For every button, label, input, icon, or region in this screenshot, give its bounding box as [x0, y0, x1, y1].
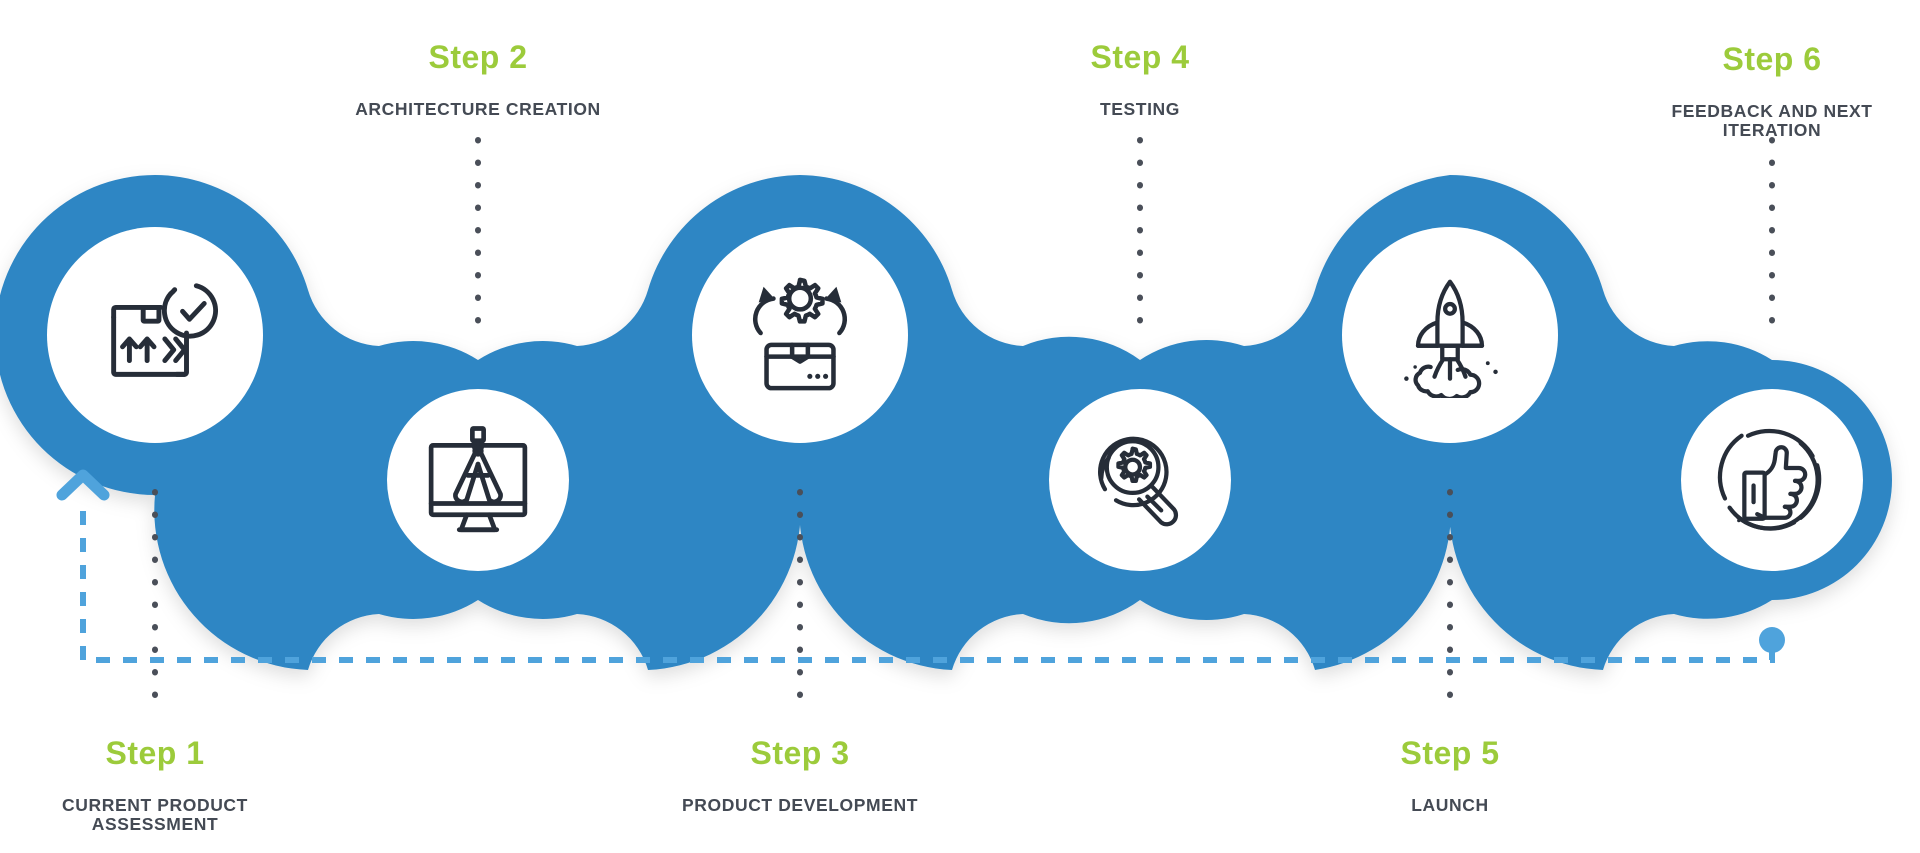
step-title-4: TESTING: [990, 100, 1290, 120]
label-step-4: Step 4 TESTING: [990, 22, 1290, 137]
step-circle-4[interactable]: [1049, 389, 1231, 571]
feedback-loop-start-dot: [1759, 627, 1785, 653]
label-step-5: Step 5 LAUNCH: [1300, 718, 1600, 833]
step-number-5: Step 5: [1300, 736, 1600, 772]
step-number-4: Step 4: [990, 40, 1290, 76]
label-step-3: Step 3 PRODUCT DEVELOPMENT: [650, 718, 950, 833]
label-step-6: Step 6 FEEDBACK AND NEXT ITERATION: [1622, 24, 1920, 159]
step-title-6: FEEDBACK AND NEXT ITERATION: [1622, 102, 1920, 141]
step-circle-6[interactable]: [1681, 389, 1863, 571]
step-title-5: LAUNCH: [1300, 796, 1600, 816]
step-circle-2[interactable]: [387, 389, 569, 571]
chain-ribbon: [0, 175, 1892, 670]
step-circle-1[interactable]: [47, 227, 263, 443]
step-number-3: Step 3: [650, 736, 950, 772]
step-number-2: Step 2: [328, 40, 628, 76]
step-number-6: Step 6: [1622, 42, 1920, 78]
step-title-1: CURRENT PRODUCT ASSESSMENT: [5, 796, 305, 835]
step-circle-3[interactable]: [692, 227, 908, 443]
step-number-1: Step 1: [5, 736, 305, 772]
label-step-1: Step 1 CURRENT PRODUCT ASSESSMENT: [5, 718, 305, 853]
label-step-2: Step 2 ARCHITECTURE CREATION: [328, 22, 628, 137]
step-title-3: PRODUCT DEVELOPMENT: [650, 796, 950, 816]
step-circle-5[interactable]: [1342, 227, 1558, 443]
step-title-2: ARCHITECTURE CREATION: [328, 100, 628, 120]
process-diagram: Step 1 CURRENT PRODUCT ASSESSMENT Step 2…: [0, 0, 1920, 835]
